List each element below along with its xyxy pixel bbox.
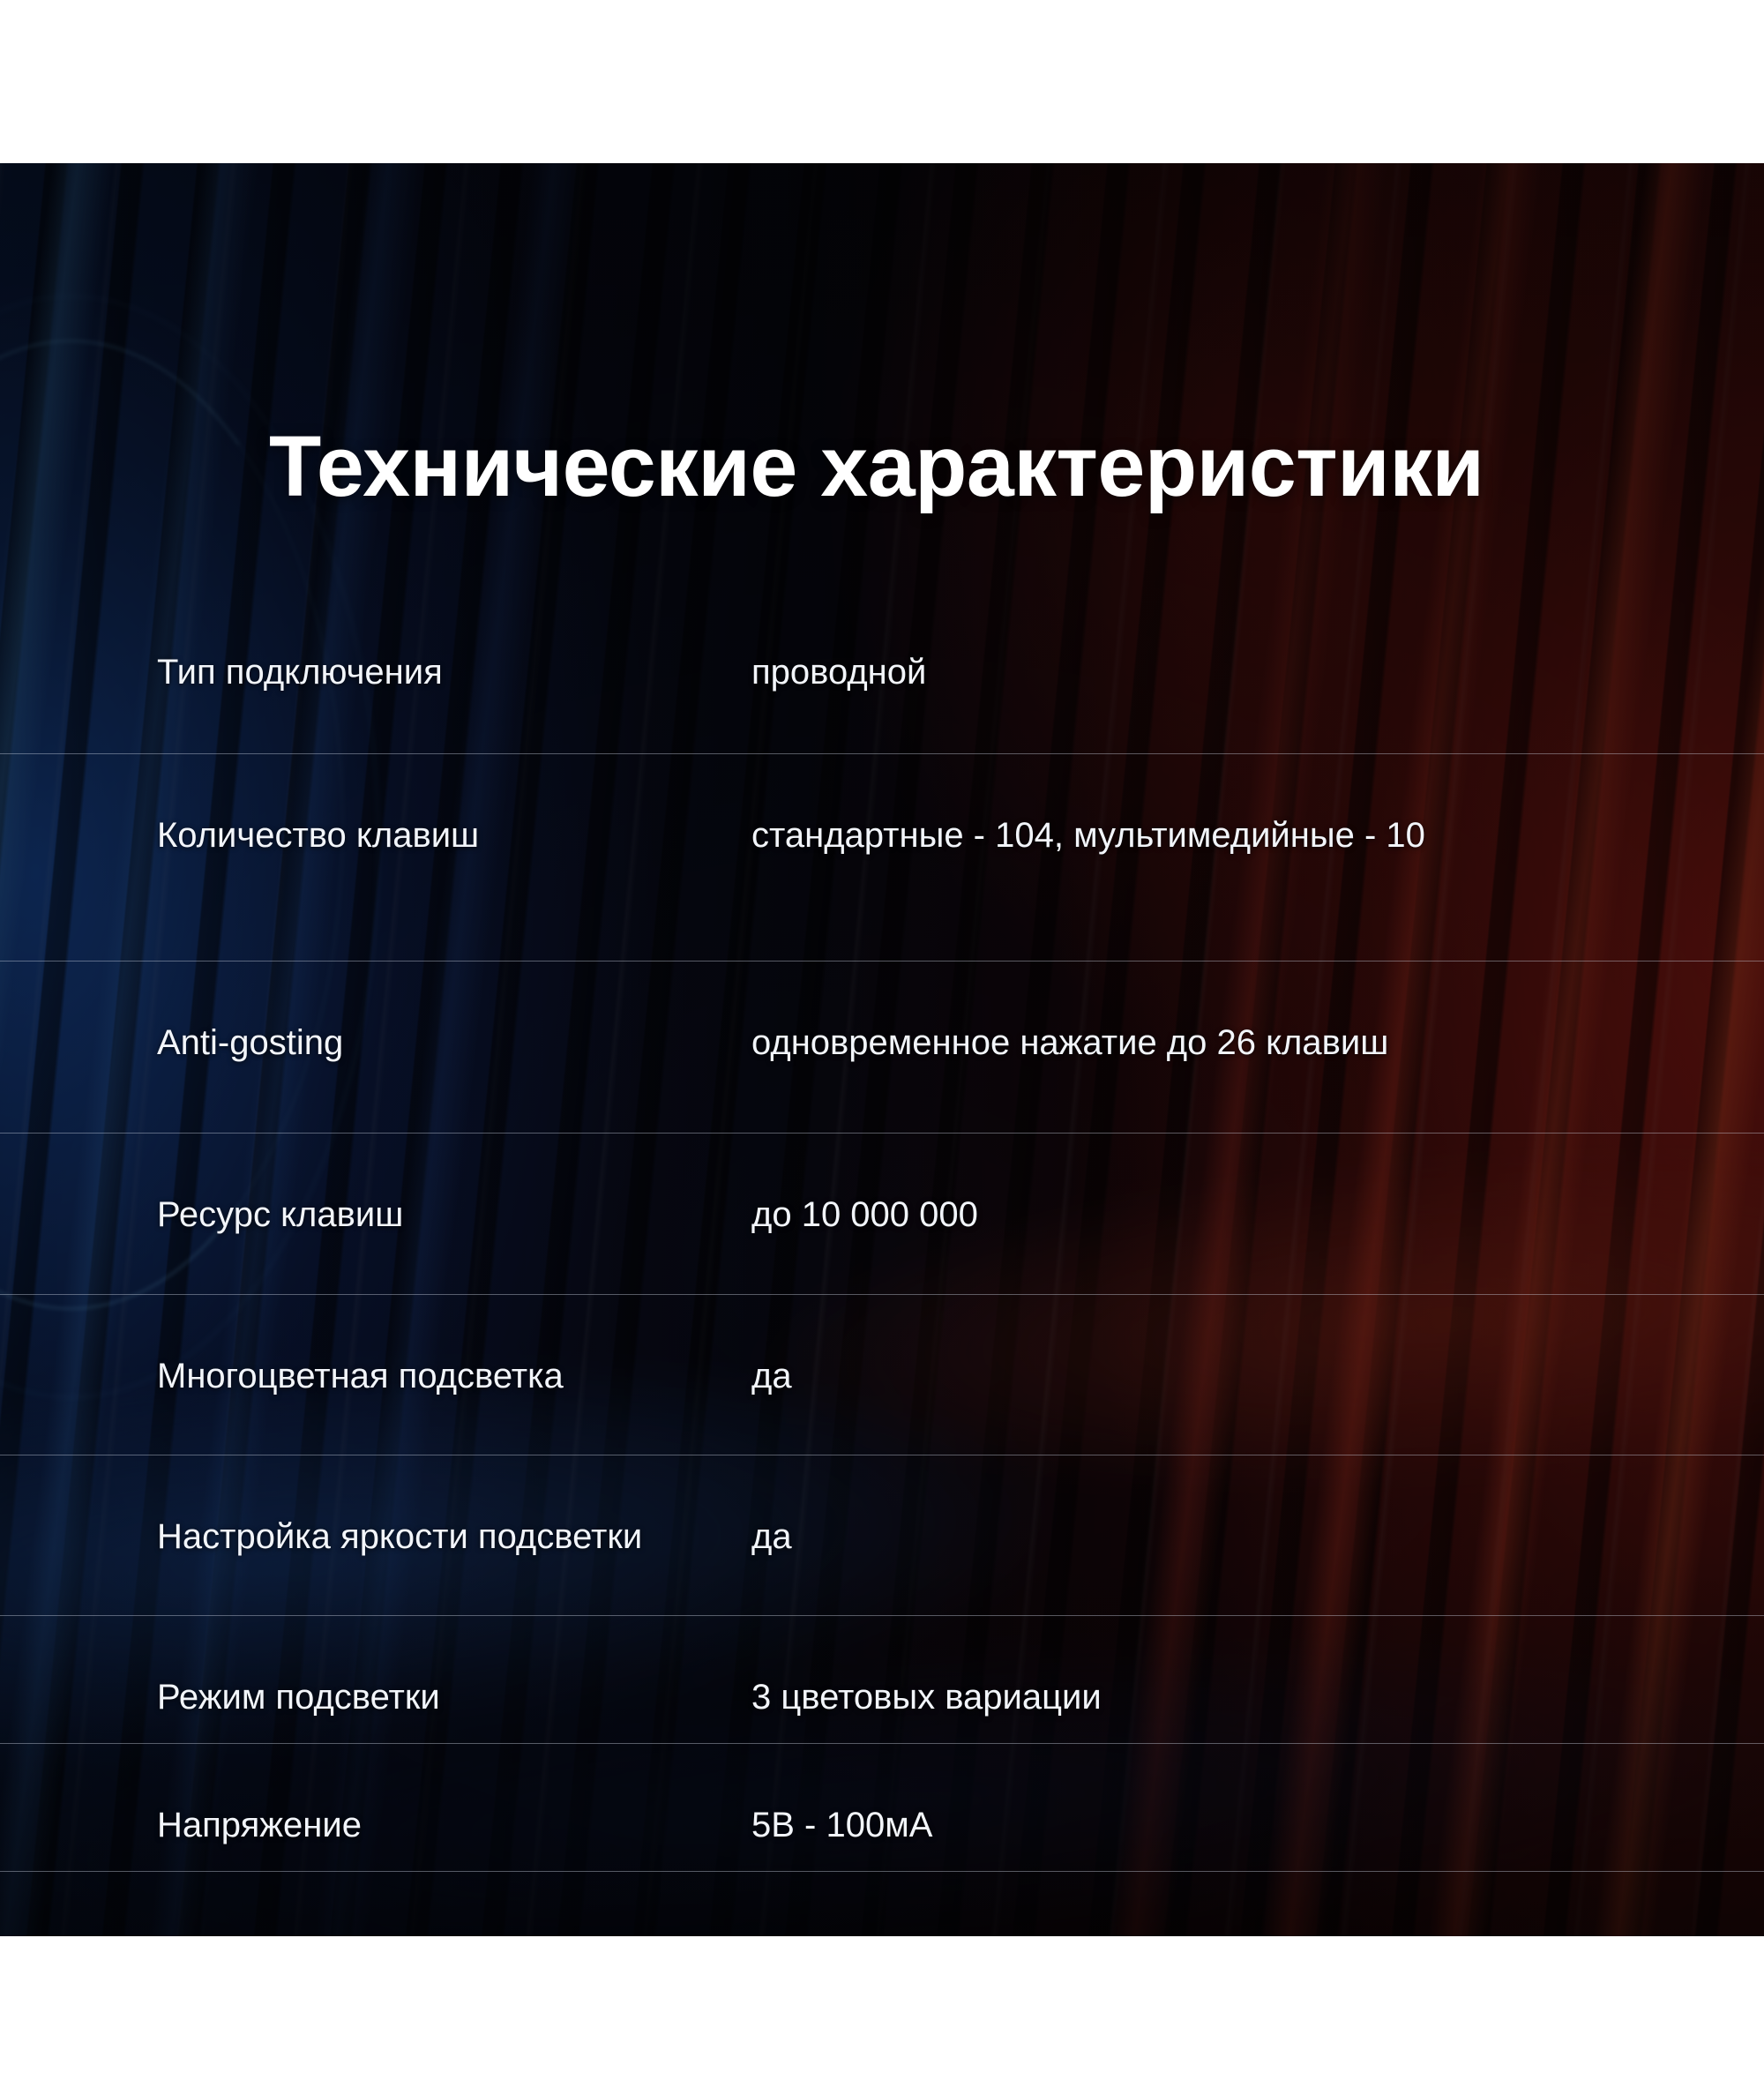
spec-name: Количество клавиш <box>0 754 751 862</box>
spec-value: да <box>751 1455 1764 1563</box>
spec-name: Напряжение <box>0 1744 751 1852</box>
table-row: Интерфейс подключения USB <box>0 1872 1764 1936</box>
page-title: Технические характеристики <box>269 417 1484 516</box>
spec-value: проводной <box>751 591 1764 699</box>
spec-name: Тип подключения <box>0 591 751 699</box>
spec-name: Режим подсветки <box>0 1616 751 1724</box>
spec-name: Интерфейс подключения <box>0 1872 751 1936</box>
spec-name: Многоцветная подсветка <box>0 1295 751 1403</box>
spec-value: стандартные - 104, мультимедийные - 10 <box>751 754 1764 862</box>
table-row: Количество клавиш стандартные - 104, мул… <box>0 754 1764 961</box>
table-row: Режим подсветки 3 цветовых вариации <box>0 1616 1764 1744</box>
spec-value: USB <box>751 1872 1764 1936</box>
table-row: Настройка яркости подсветки да <box>0 1455 1764 1616</box>
spec-value: 5В - 100мА <box>751 1744 1764 1852</box>
table-row: Ресурс клавиш до 10 000 000 <box>0 1134 1764 1295</box>
spec-value: 3 цветовых вариации <box>751 1616 1764 1724</box>
spec-value: до 10 000 000 <box>751 1134 1764 1241</box>
spec-value: да <box>751 1295 1764 1403</box>
table-row: Тип подключения проводной <box>0 591 1764 754</box>
spec-name: Anti-gosting <box>0 961 751 1069</box>
content-layer: Технические характеристики Тип подключен… <box>0 163 1764 1936</box>
table-row: Напряжение 5В - 100мА <box>0 1744 1764 1872</box>
table-row: Anti-gosting одновременное нажатие до 26… <box>0 961 1764 1134</box>
spec-name: Ресурс клавиш <box>0 1134 751 1241</box>
table-row: Многоцветная подсветка да <box>0 1295 1764 1455</box>
spec-value: одновременное нажатие до 26 клавиш <box>751 961 1764 1069</box>
spec-name: Настройка яркости подсветки <box>0 1455 751 1563</box>
specifications-table: Тип подключения проводной Количество кла… <box>0 591 1764 1936</box>
background-artwork: Технические характеристики Тип подключен… <box>0 163 1764 1936</box>
